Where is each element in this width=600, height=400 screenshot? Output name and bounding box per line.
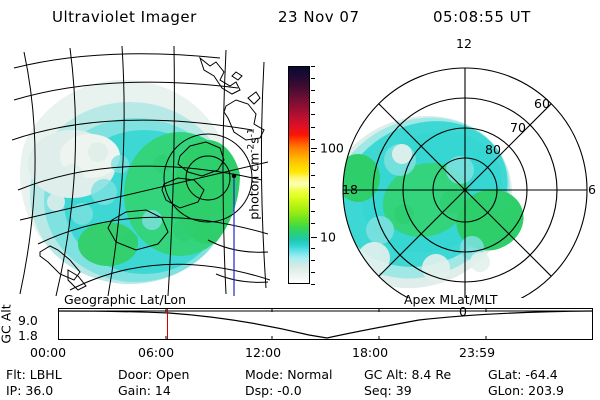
colorbar-unit-main: photon cm bbox=[247, 153, 262, 220]
status-door: Door: Open bbox=[118, 367, 189, 382]
status-gc-alt: GC Alt: 8.4 Re bbox=[364, 367, 451, 382]
colorbar-minor-tick bbox=[311, 127, 315, 128]
status-mode: Mode: Normal bbox=[245, 367, 332, 382]
colorbar-minor-tick bbox=[311, 272, 315, 273]
orbit-y-max-label: 9.0 bbox=[18, 313, 38, 328]
colorbar-minor-tick bbox=[311, 211, 315, 212]
status-glon: GLon: 203.9 bbox=[488, 383, 564, 398]
orbit-altitude-curve bbox=[59, 311, 592, 338]
status-seq: Seq: 39 bbox=[364, 383, 412, 398]
colorbar-tick-100 bbox=[311, 148, 317, 149]
orbit-y-axis-label: GC Alt bbox=[0, 304, 14, 343]
colorbar-minor-tick bbox=[311, 66, 315, 67]
status-ip: IP: 36.0 bbox=[6, 383, 53, 398]
colorbar-minor-tick bbox=[311, 78, 315, 79]
observation-date: 23 Nov 07 bbox=[278, 8, 360, 26]
orbit-time-tick-2: 12:00 bbox=[245, 345, 281, 360]
geographic-image-panel[interactable] bbox=[12, 44, 270, 298]
mlat-ring-label-60: 60 bbox=[534, 96, 550, 111]
observation-time: 05:08:55 UT bbox=[433, 8, 531, 26]
colorbar-minor-tick bbox=[311, 260, 315, 261]
mlt-label-12: 12 bbox=[456, 36, 472, 51]
colorbar-minor-tick bbox=[311, 114, 315, 115]
colorbar-unit-exp1: -2 bbox=[246, 144, 256, 153]
colorbar[interactable]: photon cm-2s-1 10010 bbox=[288, 66, 310, 284]
apex-panel-title: Apex MLat/MLT bbox=[404, 292, 498, 307]
colorbar-minor-tick bbox=[311, 175, 315, 176]
status-filter: Flt: LBHL bbox=[6, 367, 62, 382]
orbit-y-min-label: 1.8 bbox=[18, 328, 38, 343]
colorbar-tick-10 bbox=[311, 237, 317, 238]
orbit-time-tick-4: 23:59 bbox=[459, 345, 495, 360]
sub-satellite-point bbox=[232, 174, 236, 178]
colorbar-minor-tick bbox=[311, 223, 315, 224]
orbit-altitude-plot[interactable] bbox=[58, 308, 593, 340]
colorbar-minor-tick bbox=[311, 139, 315, 140]
aurora-emission-data bbox=[16, 80, 242, 288]
colorbar-minor-tick bbox=[311, 102, 315, 103]
apex-mlat-mlt-panel[interactable]: 12 6 0 18 80 70 60 bbox=[340, 42, 598, 298]
colorbar-unit-mid: s bbox=[247, 137, 262, 144]
status-dsp: Dsp: -0.0 bbox=[245, 383, 302, 398]
status-glat: GLat: -64.4 bbox=[488, 367, 558, 382]
mlt-label-18: 18 bbox=[342, 182, 358, 197]
mlt-label-6: 6 bbox=[588, 182, 596, 197]
colorbar-minor-tick bbox=[311, 187, 315, 188]
colorbar-axis-label: photon cm-2s-1 bbox=[246, 128, 261, 219]
colorbar-minor-tick bbox=[311, 163, 315, 164]
colorbar-minor-tick bbox=[311, 284, 315, 285]
orbit-time-tick-0: 00:00 bbox=[30, 345, 66, 360]
geographic-panel-title: Geographic Lat/Lon bbox=[64, 292, 186, 307]
orbit-altitude-svg bbox=[59, 309, 592, 339]
mlat-ring-label-70: 70 bbox=[510, 120, 526, 135]
mlat-ring-label-80: 80 bbox=[485, 142, 501, 157]
status-gain: Gain: 14 bbox=[118, 383, 171, 398]
orbit-time-cursor[interactable] bbox=[167, 309, 168, 339]
colorbar-gradient bbox=[288, 66, 310, 284]
orbit-tick-marks bbox=[166, 309, 486, 339]
colorbar-minor-tick bbox=[311, 151, 315, 152]
orbit-time-tick-3: 18:00 bbox=[352, 345, 388, 360]
polar-plot-svg bbox=[340, 42, 598, 298]
colorbar-tick-label-10: 10 bbox=[320, 230, 336, 245]
orbit-time-tick-1: 06:00 bbox=[138, 345, 174, 360]
geographic-plot-svg bbox=[12, 44, 270, 298]
colorbar-minor-tick bbox=[311, 199, 315, 200]
colorbar-minor-tick bbox=[311, 248, 315, 249]
colorbar-minor-tick bbox=[311, 90, 315, 91]
instrument-title: Ultraviolet Imager bbox=[52, 8, 197, 26]
colorbar-unit-exp2: -1 bbox=[246, 128, 256, 137]
